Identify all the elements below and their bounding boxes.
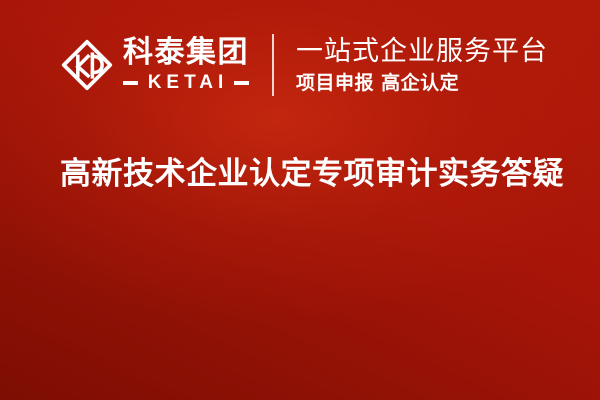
banner-header: 科泰集团 KETAI 一站式企业服务平台 项目申报 高企认定 <box>0 0 600 128</box>
tagline-main: 一站式企业服务平台 <box>296 36 548 67</box>
ketai-kd-diamond-logo-icon <box>60 38 114 92</box>
company-name-en-row: KETAI <box>123 73 249 93</box>
tagline-sub: 项目申报 高企认定 <box>296 71 548 95</box>
wordmark: 科泰集团 KETAI <box>123 37 249 93</box>
wordmark-rule-right <box>234 81 249 85</box>
page-title: 高新技术企业认定专项审计实务答疑 <box>60 152 568 196</box>
company-name-cn: 科泰集团 <box>123 37 249 69</box>
tagline-block: 一站式企业服务平台 项目申报 高企认定 <box>296 36 548 95</box>
wordmark-rule-left <box>123 81 138 85</box>
promo-banner: 科泰集团 KETAI 一站式企业服务平台 项目申报 高企认定 高新技术企业认定专… <box>0 0 600 400</box>
company-name-en: KETAI <box>138 73 235 93</box>
header-vertical-divider <box>272 34 274 96</box>
brand-lockup[interactable]: 科泰集团 KETAI <box>60 36 249 93</box>
